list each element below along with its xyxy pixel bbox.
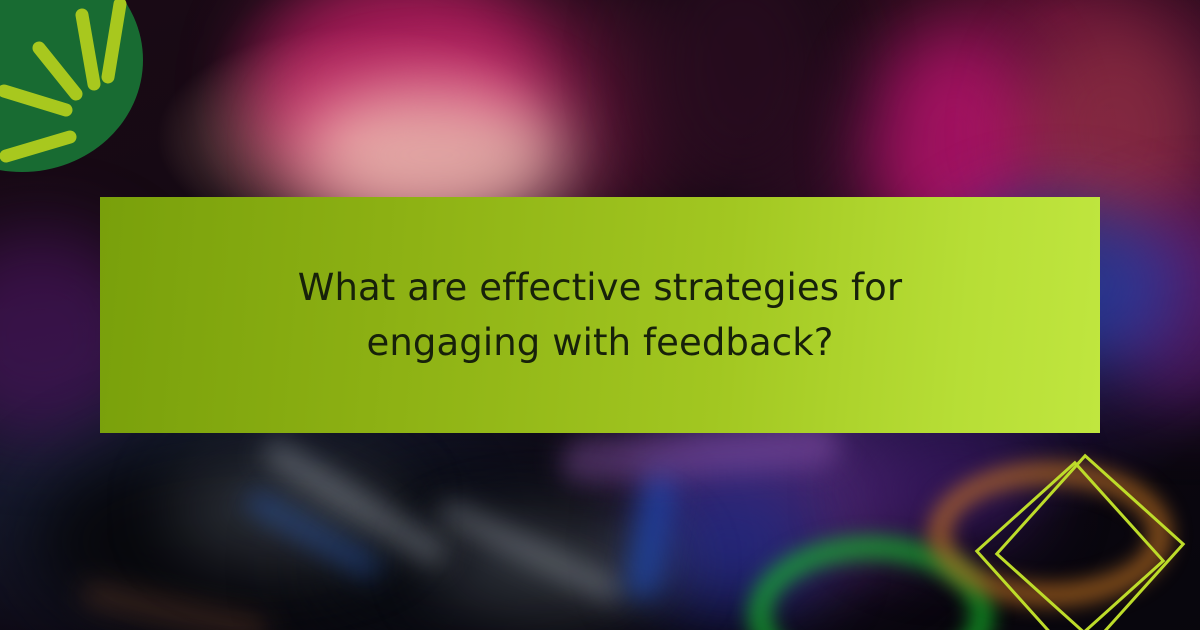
headline-card: What are effective strategies for engagi… <box>100 197 1100 433</box>
green-burst-decoration <box>0 0 176 178</box>
question-card-banner: What are effective strategies for engagi… <box>0 0 1200 630</box>
rotated-squares-decoration <box>980 418 1200 630</box>
page-title: What are effective strategies for engagi… <box>220 260 980 371</box>
